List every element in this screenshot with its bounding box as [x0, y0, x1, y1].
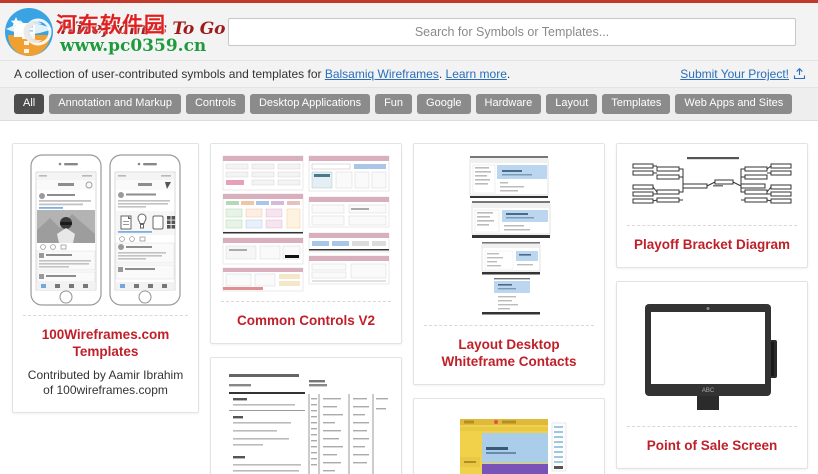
site-logo-icon [2, 5, 56, 59]
card-subtitle: Contributed by Aamir Ibrahim of 100wiref… [23, 368, 188, 399]
link-learn-more[interactable]: Learn more [446, 67, 507, 81]
tab-web-apps-and-sites[interactable]: Web Apps and Sites [675, 94, 792, 114]
tab-all[interactable]: All [14, 94, 44, 114]
card-column-4: Playoff Bracket Diagram ABC [616, 143, 808, 469]
device-label: ABC [702, 388, 715, 394]
card-thumbnail [627, 154, 797, 226]
stacked-desktop-windows-mockup [424, 154, 594, 316]
tab-controls[interactable]: Controls [186, 94, 245, 114]
subheader-desc-prefix: A collection of user-contributed symbols… [14, 67, 325, 81]
watermark-site-name: 河东软件园 [56, 9, 166, 39]
card-title: Common Controls V2 [221, 313, 391, 330]
card-thumbnail: ABC [627, 292, 797, 427]
tab-fun[interactable]: Fun [375, 94, 412, 114]
subheader-description: A collection of user-contributed symbols… [14, 67, 510, 81]
card-playoff-bracket-diagram[interactable]: Playoff Bracket Diagram [616, 143, 808, 268]
submit-your-project-label: Submit Your Project! [680, 67, 789, 81]
tab-annotation-and-markup[interactable]: Annotation and Markup [49, 94, 181, 114]
card-100wireframes-templates[interactable]: 100Wireframes.com Templates Contributed … [12, 143, 199, 413]
tournament-bracket-mockup [627, 154, 797, 216]
tab-desktop-applications[interactable]: Desktop Applications [250, 94, 370, 114]
card-title: Playoff Bracket Diagram [627, 237, 797, 254]
search-input[interactable] [228, 18, 796, 46]
search-container [228, 18, 818, 46]
card-thumbnail [23, 154, 188, 316]
wireframes-to-go-page: Wireframes To Go 河东软件园 www.pc0359.cn A c… [0, 0, 818, 474]
tab-layout[interactable]: Layout [546, 94, 597, 114]
tab-google[interactable]: Google [417, 94, 470, 114]
two-iphone-social-feed-mockups [30, 154, 181, 306]
subheader-desc-mid: . [439, 67, 446, 81]
link-balsamiq-wireframes[interactable]: Balsamiq Wireframes [325, 67, 439, 81]
category-tab-bar: All Annotation and Markup Controls Deskt… [0, 88, 818, 121]
tab-hardware[interactable]: Hardware [476, 94, 542, 114]
card-title: Layout Desktop Whiteframe Contacts [424, 337, 594, 371]
card-document-project[interactable] [210, 357, 402, 474]
page-header: Wireframes To Go 河东软件园 www.pc0359.cn [0, 3, 818, 61]
project-card-grid: 100Wireframes.com Templates Contributed … [0, 125, 818, 474]
card-column-1: 100Wireframes.com Templates Contributed … [12, 143, 199, 413]
subheader-bar: A collection of user-contributed symbols… [0, 61, 818, 88]
subheader-desc-suffix: . [507, 67, 510, 81]
card-title: Point of Sale Screen [627, 438, 797, 455]
card-common-controls-v2[interactable]: Common Controls V2 [210, 143, 402, 344]
card-title: 100Wireframes.com Templates [23, 327, 188, 361]
card-thumbnail [221, 368, 391, 474]
card-thumbnail [221, 154, 391, 302]
monitor-device-mockup: ABC [627, 292, 797, 417]
document-table-mockup [221, 368, 391, 474]
card-thumbnail [424, 154, 594, 326]
card-thumbnail [424, 409, 594, 474]
submit-your-project-link[interactable]: Submit Your Project! [680, 67, 806, 81]
colorful-dashboard-mockup [424, 409, 594, 474]
card-columns: 100Wireframes.com Templates Contributed … [12, 143, 808, 474]
control-panels-grid-mockup [221, 154, 391, 292]
brand-zone[interactable]: Wireframes To Go 河东软件园 www.pc0359.cn [0, 3, 228, 61]
card-point-of-sale-screen[interactable]: ABC Point of Sale Screen [616, 281, 808, 469]
upload-icon [793, 67, 806, 80]
tab-templates[interactable]: Templates [602, 94, 670, 114]
card-colorful-dashboard-project[interactable] [413, 398, 605, 474]
card-column-2: Common Controls V2 [210, 143, 402, 474]
card-column-3: Layout Desktop Whiteframe Contacts [413, 143, 605, 474]
card-layout-desktop-whiteframe-contacts[interactable]: Layout Desktop Whiteframe Contacts [413, 143, 605, 385]
watermark-site-url: www.pc0359.cn [60, 36, 206, 56]
